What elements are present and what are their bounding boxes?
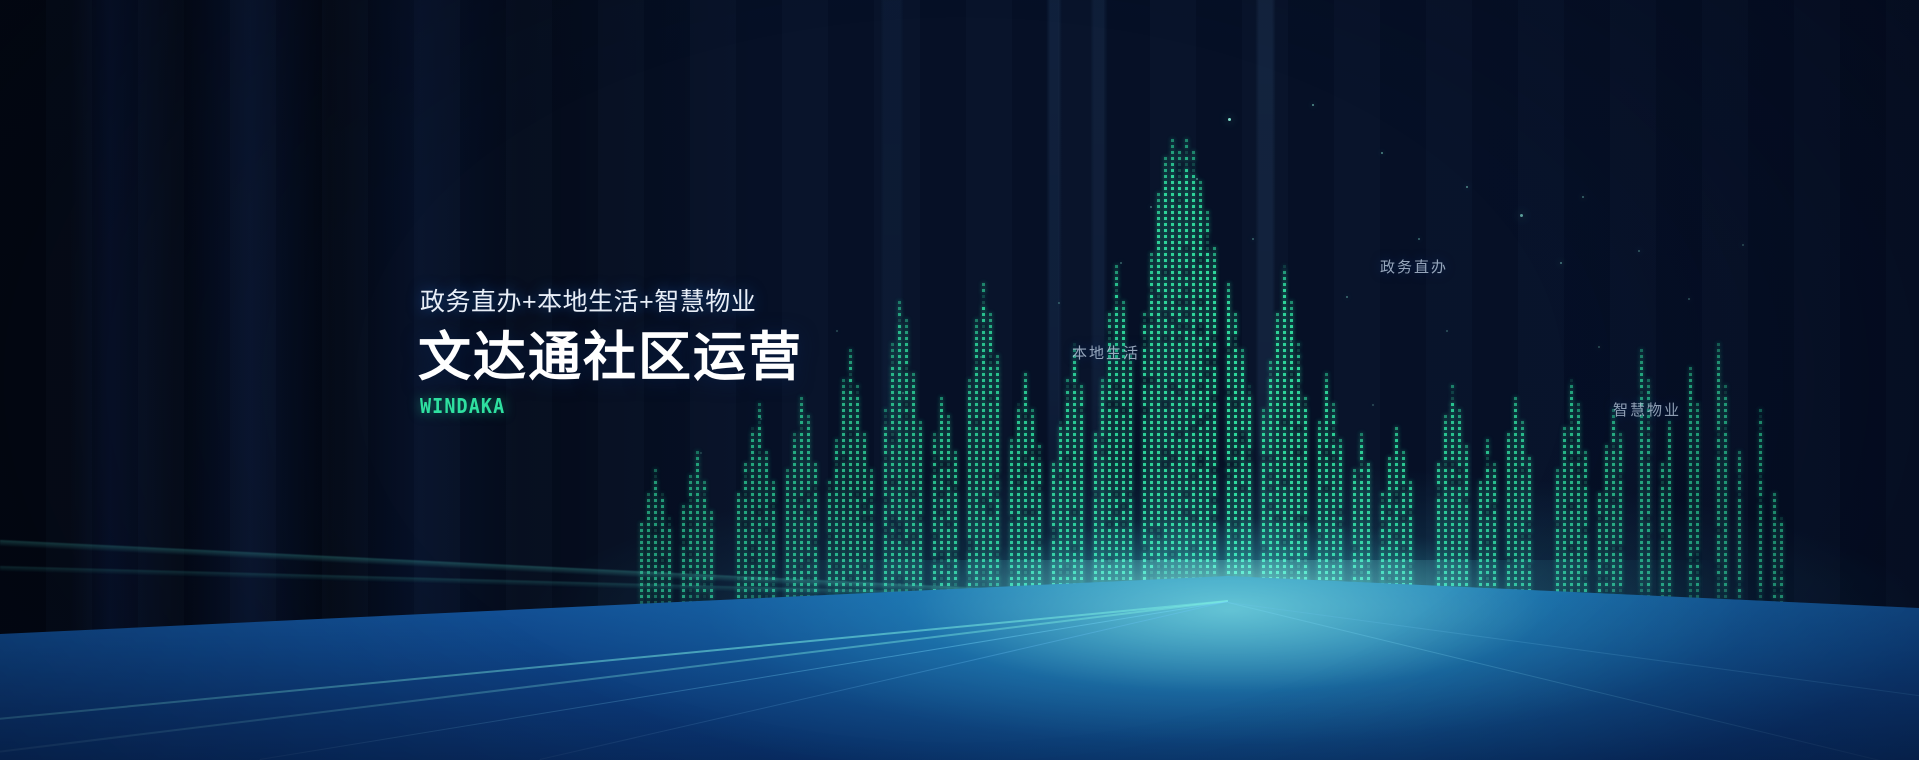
hero-banner: 政务直办本地生活智慧物业 政务直办+本地生活+智慧物业 文达通社区运营 WIND… [0,0,1919,760]
sparkle-14 [1058,302,1060,304]
hero-text-block: 政务直办+本地生活+智慧物业 文达通社区运营 WINDAKA [418,290,1058,416]
sparkle-18 [1688,298,1690,300]
sparkle-21 [1446,330,1448,332]
sparkle-10 [1252,238,1254,240]
category-label-2: 本地生活 [1072,342,1140,363]
hero-headline: 文达通社区运营 [418,331,1058,384]
sparkle-25 [760,418,762,420]
sparkle-22 [1150,206,1152,208]
category-label-3: 智慧物业 [1613,399,1681,420]
sparkle-11 [1582,196,1584,198]
sparkle-1 [1228,118,1231,121]
sparkle-24 [1598,346,1600,348]
sparkle-20 [1290,340,1292,342]
sparkle-26 [700,452,702,454]
sparkle-13 [1120,262,1122,264]
sparkle-12 [1638,250,1640,252]
sparkle-5 [1466,186,1468,188]
sparkle-7 [1418,238,1420,240]
hero-tagline: 政务直办+本地生活+智慧物业 [420,290,1058,315]
sparkle-9 [1346,296,1348,298]
sparkle-4 [1381,152,1383,154]
sparkle-19 [1742,244,1744,246]
brand-wordmark: WINDAKA [420,396,1007,416]
sparkle-2 [1312,104,1314,106]
category-label-1: 政务直办 [1380,256,1448,277]
sparkle-8 [1560,262,1562,264]
sparkle-6 [1520,214,1523,217]
sparkle-3 [1196,178,1198,180]
sparkle-23 [1372,404,1374,406]
